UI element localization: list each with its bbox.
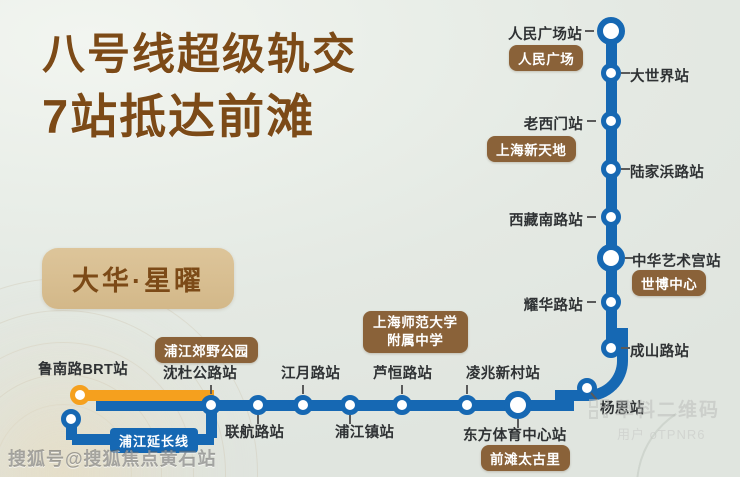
station-label-lunan-lu-brt: 鲁南路BRT站	[38, 358, 128, 379]
station-dot-lunan-lu-brt[interactable]	[70, 385, 90, 405]
station-label-zhonghua-yishugong: 中华艺术宫站	[632, 250, 721, 271]
station-dot-jiangyue-lu[interactable]	[293, 395, 313, 415]
station-dot-yaohua-lu[interactable]	[601, 292, 621, 312]
poi-badge-shibo-zhongxin: 世博中心	[632, 270, 706, 296]
station-dot-branch-terminus[interactable]	[61, 409, 81, 429]
station-dot-renmin-guangchang[interactable]	[597, 17, 625, 45]
station-label-lingzhao-xincun: 凌兆新村站	[466, 362, 540, 383]
watermark-title: 草料二维码	[615, 395, 720, 422]
poi-badge-renmin-guangchang: 人民广场	[509, 45, 583, 71]
poi-badge-line-2: 附属中学	[373, 332, 458, 350]
headline-block: 八号线超级轨交 7站抵达前滩	[42, 30, 442, 144]
station-tick	[587, 120, 596, 122]
watermark-caoliao: 草料二维码 用户 oTPNR6	[589, 395, 720, 443]
station-label-laoximen: 老西门站	[495, 113, 583, 134]
station-tick	[210, 385, 212, 394]
station-dot-dashijie[interactable]	[601, 63, 621, 83]
station-label-xizang-nanlu: 西藏南路站	[484, 209, 583, 230]
station-dot-lujiabang-lu[interactable]	[601, 159, 621, 179]
station-label-yaohua-lu: 耀华路站	[497, 294, 583, 315]
station-dot-luheng-lu[interactable]	[392, 395, 412, 415]
station-dot-lianhang-lu[interactable]	[248, 395, 268, 415]
station-tick	[621, 347, 630, 349]
station-label-dongfang-tiyu-zhongxin: 东方体育中心站	[463, 424, 567, 445]
station-dot-zhonghua-yishugong[interactable]	[597, 244, 625, 272]
station-label-dashijie: 大世界站	[630, 65, 689, 86]
station-dot-lingzhao-xincun[interactable]	[457, 395, 477, 415]
station-tick	[621, 72, 630, 74]
station-dot-dongfang-tiyu-zhongxin[interactable]	[504, 391, 532, 419]
station-tick	[587, 216, 596, 218]
station-tick	[466, 385, 468, 394]
brand-badge: 大华·星曜	[42, 248, 234, 309]
station-dot-pujiangzhen[interactable]	[340, 395, 360, 415]
station-dot-chengshan-lu[interactable]	[601, 338, 621, 358]
qr-code-icon	[589, 399, 609, 419]
station-label-jiangyue-lu: 江月路站	[281, 362, 340, 383]
metro-line-poster: 八号线超级轨交 7站抵达前滩 大华·星曜 人民广场站 人民广场 大世界站 老西门…	[0, 0, 740, 477]
station-label-chengshan-lu: 成山路站	[630, 340, 689, 361]
poi-badge-line-1: 上海师范大学	[373, 314, 458, 332]
station-label-lujiabang-lu: 陆家浜路站	[630, 161, 704, 182]
poi-badge-xintiandi: 上海新天地	[487, 136, 576, 162]
station-tick	[587, 301, 596, 303]
station-tick	[401, 385, 403, 394]
station-label-renmin-guangchang: 人民广场站	[496, 23, 582, 44]
headline-line-1: 八号线超级轨交	[42, 30, 442, 81]
station-dot-laoximen[interactable]	[601, 111, 621, 131]
metro-line-horizontal-trunk	[96, 400, 574, 411]
station-label-lianhang-lu: 联航路站	[225, 421, 284, 442]
poi-badge-qiantan-taiguli: 前滩太古里	[481, 445, 570, 471]
station-dot-shendu-gonglu[interactable]	[201, 395, 221, 415]
poi-badge-pujiang-jiaoye-gongyuan: 浦江郊野公园	[155, 337, 258, 363]
watermark-sohu: 搜狐号@搜狐焦点黄石站	[8, 445, 217, 471]
watermark-subtitle: 用户 oTPNR6	[589, 424, 720, 443]
station-label-shendu-gonglu: 沈杜公路站	[163, 362, 237, 383]
station-label-pujiangzhen: 浦江镇站	[335, 421, 394, 442]
metro-line-orange-branch	[78, 390, 214, 401]
headline-line-2: 7站抵达前滩	[42, 89, 442, 144]
poi-badge-shanghai-shifan-fuzhong: 上海师范大学 附属中学	[363, 311, 468, 353]
station-tick	[585, 30, 594, 32]
station-tick	[621, 168, 630, 170]
station-label-luheng-lu: 芦恒路站	[373, 362, 432, 383]
station-tick	[302, 385, 304, 394]
station-dot-xizang-nanlu[interactable]	[601, 207, 621, 227]
